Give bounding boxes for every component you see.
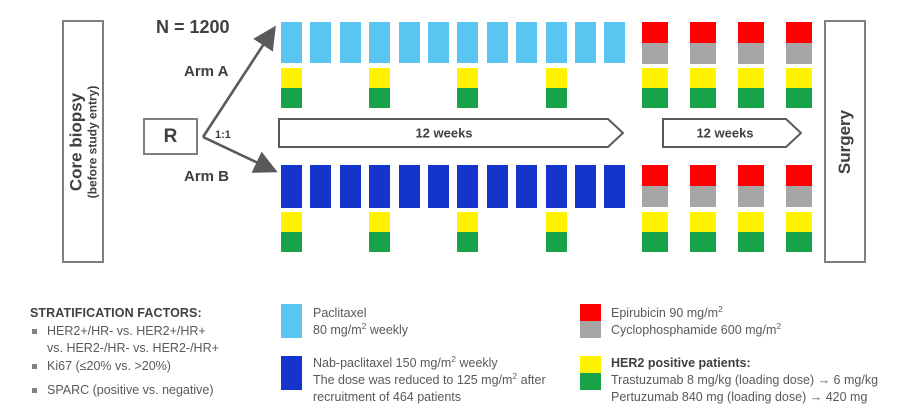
stratification-title: STRATIFICATION FACTORS:	[30, 306, 202, 320]
surgery-box: Surgery	[824, 20, 866, 263]
arm-a-cyclophosphamide-cycle-2	[690, 43, 716, 64]
legend-pertuzumab: Pertuzumab 840 mg (loading dose) → 420 m…	[611, 389, 867, 405]
phase-1-banner: 12 weeks	[278, 118, 624, 148]
surgery-title: Surgery	[835, 109, 855, 173]
arm-b-taxane-cycle-4	[369, 165, 390, 208]
legend-swatch-nab-paclitaxel	[281, 356, 302, 390]
legend-nab-paclitaxel-line-1: Nab-paclitaxel 150 mg/m2 weekly	[313, 355, 498, 371]
arm-a-p2-trastuzumab-1	[642, 68, 668, 88]
legend-epirubicin: Epirubicin 90 mg/m2	[611, 305, 723, 321]
arm-a-p2-trastuzumab-3	[738, 68, 764, 88]
arm-b-cyclophosphamide-cycle-3	[738, 186, 764, 207]
core-biopsy-box: Core biopsy (before study entry)	[62, 20, 104, 263]
arm-b-taxane-cycle-12	[604, 165, 625, 208]
arm-b-p1-trastuzumab-1	[281, 212, 302, 232]
legend-epi-sup: 2	[718, 304, 723, 314]
legend-nab-paclitaxel-line-3: recruitment of 464 patients	[313, 389, 461, 405]
arm-b-taxane-cycle-7	[457, 165, 478, 208]
arm-b-p2-pertuzumab-2	[690, 232, 716, 252]
arm-a-p1-trastuzumab-1	[281, 68, 302, 88]
stratification-item-2: Ki67 (≤20% vs. >20%)	[47, 358, 171, 374]
arm-b-epirubicin-cycle-2	[690, 165, 716, 186]
arm-a-p1-trastuzumab-2	[369, 68, 390, 88]
arm-b-epirubicin-cycle-3	[738, 165, 764, 186]
legend-swatch-trastuzumab	[580, 356, 601, 373]
arm-b-p1-trastuzumab-3	[457, 212, 478, 232]
legend-swatch-pertuzumab	[580, 373, 601, 390]
stratification-bullet-3	[32, 388, 37, 393]
arm-a-p2-pertuzumab-4	[786, 88, 812, 108]
arm-a-epirubicin-cycle-2	[690, 22, 716, 43]
arm-b-taxane-cycle-2	[310, 165, 331, 208]
arm-b-taxane-cycle-8	[487, 165, 508, 208]
arm-a-p1-pertuzumab-3	[457, 88, 478, 108]
arm-a-p2-pertuzumab-3	[738, 88, 764, 108]
stratification-bullet-1	[32, 329, 37, 334]
arm-b-taxane-cycle-10	[546, 165, 567, 208]
arm-a-taxane-cycle-6	[428, 22, 449, 63]
legend-epi-pre: Epirubicin 90 mg/m	[611, 306, 718, 320]
arm-a-epirubicin-cycle-4	[786, 22, 812, 43]
randomization-arrows	[195, 20, 285, 180]
arm-a-cyclophosphamide-cycle-1	[642, 43, 668, 64]
arm-a-p1-trastuzumab-3	[457, 68, 478, 88]
legend-paclitaxel-dose-pre: 80 mg/m	[313, 323, 362, 337]
randomization-box: R	[143, 118, 198, 155]
arm-b-p2-trastuzumab-4	[786, 212, 812, 232]
stratification-item-1-line-1: HER2+/HR- vs. HER2+/HR+	[47, 323, 206, 339]
arm-a-taxane-cycle-10	[546, 22, 567, 63]
arm-a-p2-pertuzumab-2	[690, 88, 716, 108]
arm-b-p2-trastuzumab-2	[690, 212, 716, 232]
arm-a-p1-pertuzumab-4	[546, 88, 567, 108]
arm-b-p2-trastuzumab-3	[738, 212, 764, 232]
arm-b-epirubicin-cycle-1	[642, 165, 668, 186]
arm-a-taxane-cycle-5	[399, 22, 420, 63]
arm-a-taxane-cycle-9	[516, 22, 537, 63]
legend-swatch-paclitaxel	[281, 304, 302, 338]
core-biopsy-label: Core biopsy (before study entry)	[66, 85, 99, 198]
arm-b-cyclophosphamide-cycle-4	[786, 186, 812, 207]
arm-b-taxane-cycle-3	[340, 165, 361, 208]
legend-nab-pre: Nab-paclitaxel 150 mg/m	[313, 356, 451, 370]
legend-cyclophosphamide: Cyclophosphamide 600 mg/m2	[611, 322, 781, 338]
stratification-item-1-line-2: vs. HER2-/HR- vs. HER2-/HR+	[47, 340, 219, 356]
legend-paclitaxel-name: Paclitaxel	[313, 305, 367, 321]
arm-a-label: Arm A	[184, 63, 228, 80]
surgery-label: Surgery	[835, 109, 855, 173]
phase-2-banner: 12 weeks	[662, 118, 802, 148]
stratification-bullet-2	[32, 364, 37, 369]
arm-a-taxane-cycle-7	[457, 22, 478, 63]
arm-a-taxane-cycle-12	[604, 22, 625, 63]
arm-a-cyclophosphamide-cycle-3	[738, 43, 764, 64]
arm-a-taxane-cycle-11	[575, 22, 596, 63]
arm-a-p2-pertuzumab-1	[642, 88, 668, 108]
arm-b-label: Arm B	[184, 168, 229, 185]
arm-a-cyclophosphamide-cycle-4	[786, 43, 812, 64]
phase-2-label: 12 weeks	[662, 126, 788, 141]
arm-a-p1-pertuzumab-2	[369, 88, 390, 108]
arm-a-taxane-cycle-8	[487, 22, 508, 63]
arm-b-p1-pertuzumab-3	[457, 232, 478, 252]
arm-b-p1-trastuzumab-4	[546, 212, 567, 232]
arm-b-p2-pertuzumab-4	[786, 232, 812, 252]
arm-b-p1-pertuzumab-2	[369, 232, 390, 252]
arm-b-taxane-cycle-1	[281, 165, 302, 208]
arm-b-taxane-cycle-6	[428, 165, 449, 208]
legend-paclitaxel-dose: 80 mg/m2 weekly	[313, 322, 408, 338]
legend-cyc-pre: Cyclophosphamide 600 mg/m	[611, 323, 776, 337]
legend-trastuzumab: Trastuzumab 8 mg/kg (loading dose) → 6 m…	[611, 372, 878, 388]
phase-1-label: 12 weeks	[278, 126, 610, 141]
arm-a-p2-trastuzumab-4	[786, 68, 812, 88]
arm-b-epirubicin-cycle-4	[786, 165, 812, 186]
arm-b-p2-pertuzumab-1	[642, 232, 668, 252]
arm-a-taxane-cycle-1	[281, 22, 302, 63]
arm-b-p1-trastuzumab-2	[369, 212, 390, 232]
legend-nab-paclitaxel-line-2: The dose was reduced to 125 mg/m2 after	[313, 372, 546, 388]
arm-b-cyclophosphamide-cycle-1	[642, 186, 668, 207]
arm-b-p2-trastuzumab-1	[642, 212, 668, 232]
legend-swatch-cyclophosphamide	[580, 321, 601, 338]
stratification-item-3: SPARC (positive vs. negative)	[47, 382, 214, 398]
arm-a-epirubicin-cycle-3	[738, 22, 764, 43]
core-biopsy-subtitle: (before study entry)	[86, 85, 100, 198]
legend-nab2-post: after	[517, 373, 546, 387]
arm-a-taxane-cycle-4	[369, 22, 390, 63]
arm-b-cyclophosphamide-cycle-2	[690, 186, 716, 207]
arm-b-p2-pertuzumab-3	[738, 232, 764, 252]
arm-a-epirubicin-cycle-1	[642, 22, 668, 43]
arm-a-p2-trastuzumab-2	[690, 68, 716, 88]
arm-b-p1-pertuzumab-4	[546, 232, 567, 252]
core-biopsy-title: Core biopsy	[66, 85, 86, 198]
legend-nab-post: weekly	[456, 356, 498, 370]
arm-b-p1-pertuzumab-1	[281, 232, 302, 252]
legend-cyc-sup: 2	[776, 321, 781, 331]
arm-a-p1-pertuzumab-1	[281, 88, 302, 108]
arm-b-taxane-cycle-5	[399, 165, 420, 208]
legend-paclitaxel-dose-post: weekly	[366, 323, 408, 337]
arm-a-taxane-cycle-3	[340, 22, 361, 63]
arm-b-taxane-cycle-11	[575, 165, 596, 208]
arm-b-taxane-cycle-9	[516, 165, 537, 208]
arm-a-taxane-cycle-2	[310, 22, 331, 63]
legend-nab2-pre: The dose was reduced to 125 mg/m	[313, 373, 512, 387]
legend-her2-title: HER2 positive patients:	[611, 355, 751, 371]
arm-a-p1-trastuzumab-4	[546, 68, 567, 88]
legend-swatch-epirubicin	[580, 304, 601, 321]
